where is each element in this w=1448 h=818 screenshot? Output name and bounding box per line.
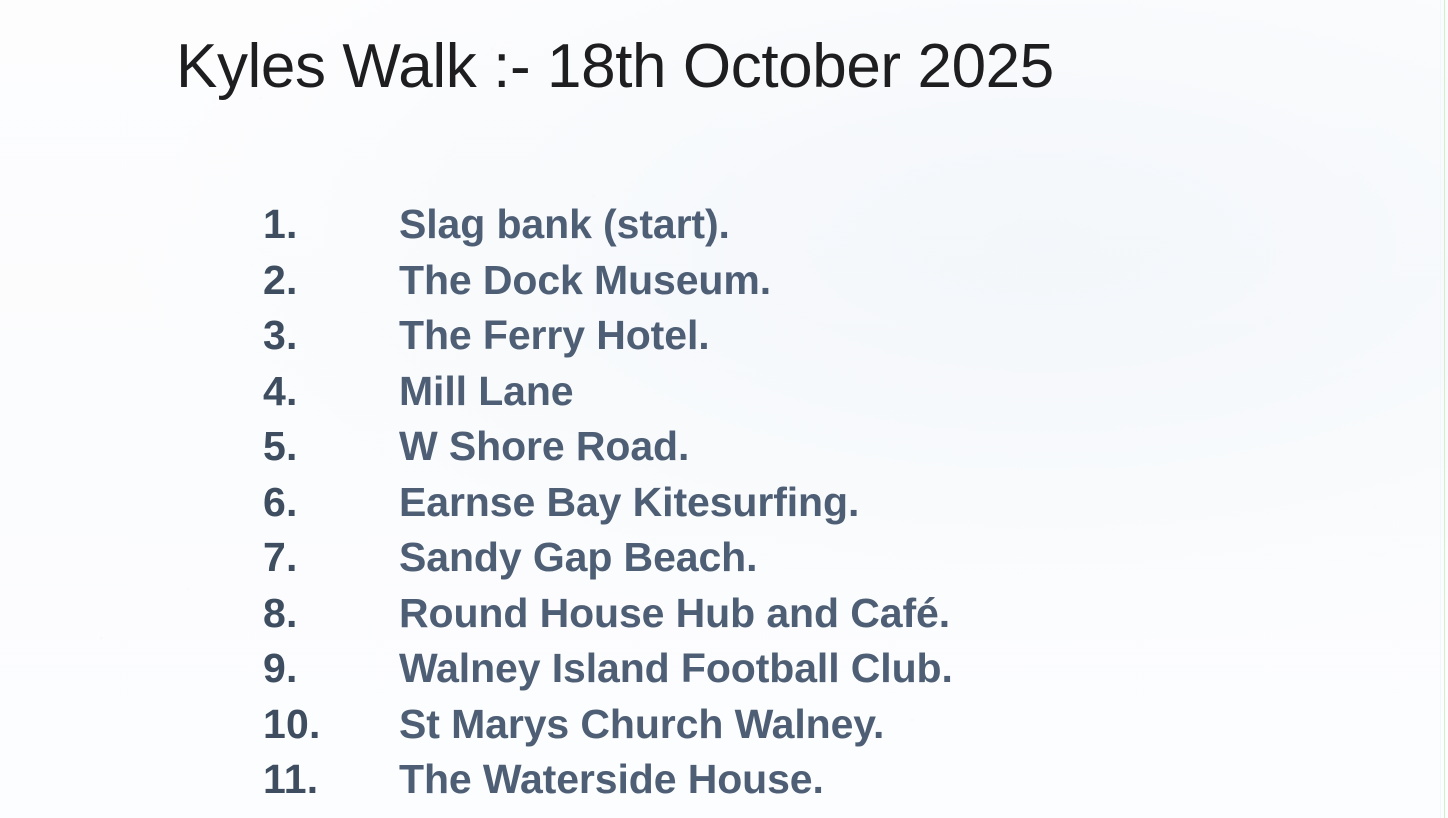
list-item: 10. St Marys Church Walney. xyxy=(263,701,1263,757)
list-item-number: 6. xyxy=(263,479,399,526)
list-item-label: The Waterside House. xyxy=(399,756,824,803)
list-item-number: 2. xyxy=(263,257,399,304)
list-item: 2. The Dock Museum. xyxy=(263,257,1263,313)
list-item-number: 5. xyxy=(263,423,399,470)
list-item-number: 9. xyxy=(263,645,399,692)
list-item-label: Sandy Gap Beach. xyxy=(399,534,757,581)
list-item: 9. Walney Island Football Club. xyxy=(263,645,1263,701)
slide-canvas: Kyles Walk :- 18th October 2025 1. Slag … xyxy=(0,0,1448,818)
list-item-label: St Marys Church Walney. xyxy=(399,701,884,748)
list-item: 3. The Ferry Hotel. xyxy=(263,312,1263,368)
list-item-label: The Dock Museum. xyxy=(399,257,771,304)
list-item: 6. Earnse Bay Kitesurfing. xyxy=(263,479,1263,535)
list-item-label: The Ferry Hotel. xyxy=(399,312,710,359)
list-item-number: 1. xyxy=(263,201,399,248)
list-item-label: Slag bank (start). xyxy=(399,201,730,248)
list-item-label: Round House Hub and Café. xyxy=(399,590,950,637)
list-item: 7. Sandy Gap Beach. xyxy=(263,534,1263,590)
list-item-number: 11. xyxy=(263,756,399,803)
list-item-number: 8. xyxy=(263,590,399,637)
list-item-number: 3. xyxy=(263,312,399,359)
walk-stop-list: 1. Slag bank (start). 2. The Dock Museum… xyxy=(263,201,1263,818)
list-item: 11. The Waterside House. xyxy=(263,756,1263,812)
list-item-label: Walney Island Football Club. xyxy=(399,645,953,692)
list-item-label: W Shore Road. xyxy=(399,423,689,470)
list-item-label: Earnse Bay Kitesurfing. xyxy=(399,479,859,526)
list-item-number: 7. xyxy=(263,534,399,581)
right-edge-inner-line xyxy=(1440,0,1441,818)
list-item-label: Mill Lane xyxy=(399,368,574,415)
page-title: Kyles Walk :- 18th October 2025 xyxy=(176,34,1054,99)
list-item-number: 4. xyxy=(263,368,399,415)
list-item-number: 10. xyxy=(263,701,399,748)
list-item-number: 12. xyxy=(263,812,399,818)
list-item: 8. Round House Hub and Café. xyxy=(263,590,1263,646)
list-item-partial: 12. xyxy=(263,812,1263,818)
list-item: 4. Mill Lane xyxy=(263,368,1263,424)
list-item: 5. W Shore Road. xyxy=(263,423,1263,479)
list-item: 1. Slag bank (start). xyxy=(263,201,1263,257)
right-edge-accent-line xyxy=(1444,0,1445,818)
